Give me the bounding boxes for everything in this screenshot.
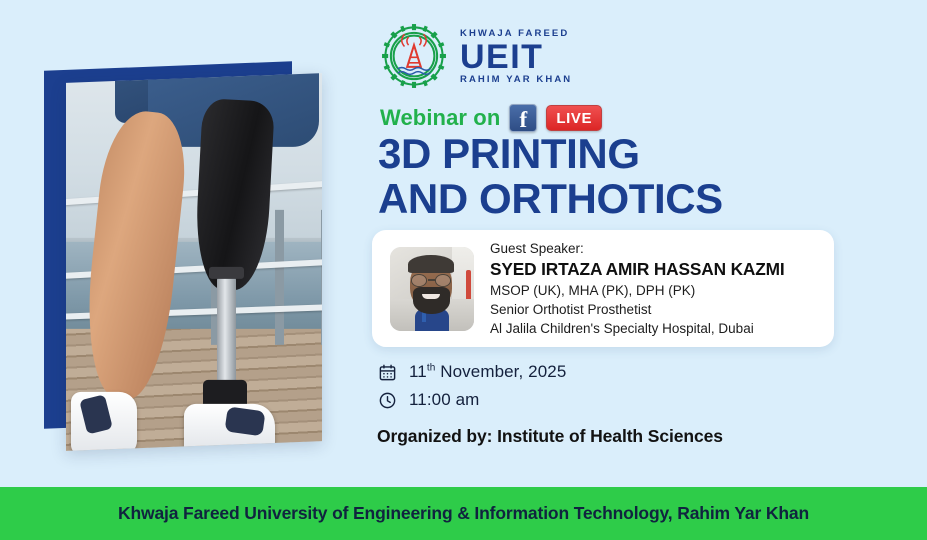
event-meta: 11th November, 2025 11:00 am [378,358,566,414]
webinar-flyer: KHWAJA FAREED UEIT RAHIM YAR KHAN Webina… [0,0,927,540]
logo-bottom-line: RAHIM YAR KHAN [460,75,572,85]
hero-photo-block [44,66,322,446]
hero-photo [66,73,322,451]
avatar-hair [408,255,453,273]
headline-line-2: AND ORTHOTICS [378,176,723,221]
photo-prosthetic-pylon [217,277,236,396]
event-date-row: 11th November, 2025 [378,358,566,386]
organizer-line: Organized by: Institute of Health Scienc… [377,426,723,447]
avatar-glasses-left [411,274,427,287]
webinar-label: Webinar on [380,105,500,131]
speaker-qualifications: MSOP (UK), MHA (PK), DPH (PK) [490,281,820,300]
live-badge[interactable]: LIVE [546,105,602,131]
event-time-row: 11:00 am [378,386,566,414]
photo-railing-post [275,210,284,344]
page-title: 3D PRINTING AND ORTHOTICS [378,131,723,222]
avatar-glasses-right [435,274,451,287]
webinar-on-row: Webinar on f LIVE [380,104,602,132]
footer-banner: Khwaja Fareed University of Engineering … [0,487,927,540]
photo-left-shoe [71,392,137,451]
speaker-label: Guest Speaker: [490,239,820,259]
facebook-icon[interactable]: f [509,104,537,132]
speaker-name: SYED IRTAZA AMIR HASSAN KAZMI [490,258,820,280]
photo-railing-post [321,210,322,344]
headline-line-1: 3D PRINTING [378,131,723,176]
university-logo: KHWAJA FAREED UEIT RAHIM YAR KHAN [380,22,572,90]
speaker-organization: Al Jalila Children's Specialty Hospital,… [490,319,820,338]
logo-wordmark: KHWAJA FAREED UEIT RAHIM YAR KHAN [460,27,572,85]
event-date: 11th November, 2025 [409,362,566,382]
facebook-letter: f [520,109,528,131]
avatar-beard [413,287,450,314]
logo-acronym: UEIT [460,40,572,75]
live-label: LIVE [556,110,592,127]
flyer-content: KHWAJA FAREED UEIT RAHIM YAR KHAN Webina… [372,0,872,488]
photo-right-shoe [184,404,275,451]
hero-photo-illustration [66,73,322,451]
event-time: 11:00 am [409,390,479,410]
event-date-day: 11 [409,362,427,381]
footer-text: Khwaja Fareed University of Engineering … [118,503,809,524]
speaker-info: Guest Speaker: SYED IRTAZA AMIR HASSAN K… [490,239,820,339]
event-date-rest: November, 2025 [435,362,566,381]
clock-icon [378,391,397,410]
calendar-icon [378,363,397,382]
avatar [390,247,474,331]
speaker-card: Guest Speaker: SYED IRTAZA AMIR HASSAN K… [372,230,834,347]
avatar-glasses-bridge [428,279,436,281]
ueit-gear-radio-tower-logo-icon [380,22,448,90]
speaker-designation: Senior Orthotist Prosthetist [490,300,820,319]
